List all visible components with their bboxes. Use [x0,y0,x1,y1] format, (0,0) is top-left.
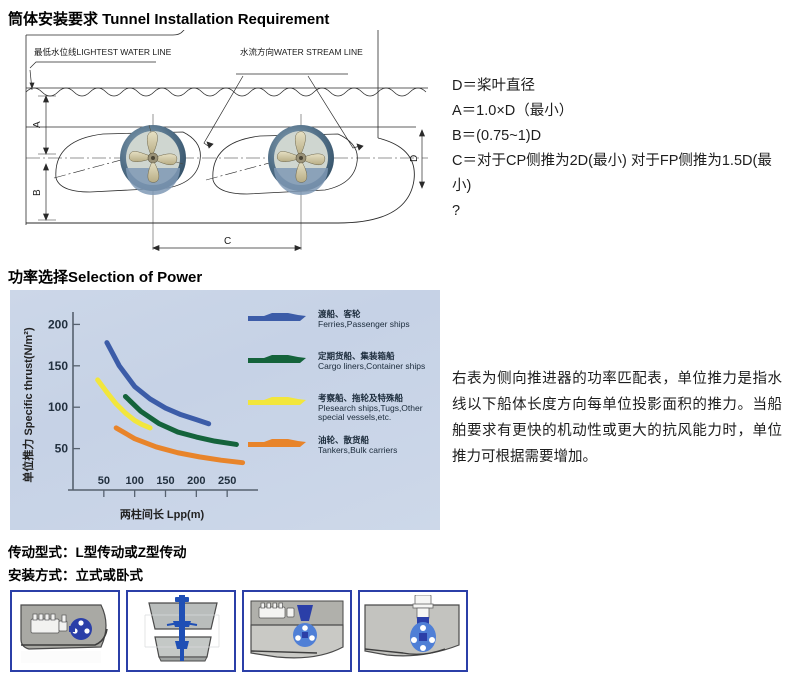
drive-type-label: 传动型式：L型传动或Z型传动 [8,541,187,561]
dimension-c-label: C [224,236,231,247]
chart-x-tick: 50 [98,475,110,487]
chart-y-tick: 100 [48,400,68,414]
legend-label-en: Tankers,Bulk carriers [318,445,397,455]
specific-thrust-chart: 5010015020025050100150200 渡船、客轮Ferries,P… [10,290,440,530]
legend-ship-icon [248,397,306,405]
formula-c: C＝对于CP侧推为2D(最小) 对于FP侧推为1.5D(最小) [452,149,784,199]
power-chart-note: 右表为侧向推进器的功率匹配表，单位推力是指水线以下船体长度方向每单位投影面积的推… [452,366,782,470]
formula-a: A＝1.0×D（最小） [452,99,784,124]
dimension-d-label: D [409,155,420,162]
formula-block: D＝桨叶直径 A＝1.0×D（最小） B＝(0.75~1)D C＝对于CP侧推为… [452,74,784,224]
legend-label-cn: 定期货船、集装箱船 [317,351,395,361]
power-section-title: 功率选择Selection of Power [8,266,202,287]
chart-x-axis-label: 两柱间长 Lpp(m) [120,507,205,521]
lowest-water-line-label: 最低水位线LIGHTEST WATER LINE [34,47,172,57]
tunnel-section-title: 筒体安装要求 Tunnel Installation Requirement [8,8,329,29]
mount-type-label: 安装方式：立式或卧式 [8,564,143,584]
legend-label-en: special vessels,etc. [318,412,391,422]
formula-d: D＝桨叶直径 [452,74,784,99]
legend-label-cn: 渡船、客轮 [318,309,361,319]
legend-ship-icon [248,439,306,447]
chart-series-line [125,396,236,444]
dimension-b-label: B [32,189,43,196]
chart-y-axis-label: 单位推力 Specific thrust(N/m²) [21,327,35,483]
chart-x-tick: 150 [156,475,174,487]
chart-x-tick: 100 [125,475,143,487]
thumbnail-horizontal-engine-bow[interactable] [10,590,120,672]
chart-y-tick: 200 [48,317,68,331]
formula-unknown: ? [452,199,784,224]
chart-series-line [98,380,150,428]
chart-x-tick: 200 [187,475,205,487]
formula-b: B＝(0.75~1)D [452,124,784,149]
thumbnail-vertical-shaft-section[interactable] [126,590,236,672]
legend-ship-icon [248,313,306,321]
legend-label-en: Ferries,Passenger ships [318,319,410,329]
dimension-a-label: A [32,121,43,128]
legend-ship-icon [248,355,306,363]
chart-y-tick: 150 [48,359,68,373]
thumbnail-vertical-mounted-thruster[interactable] [358,590,468,672]
tunnel-installation-drawing: 最低水位线LIGHTEST WATER LINE 水流方向WATER STREA… [8,30,438,260]
water-stream-line-label: 水流方向WATER STREAM LINE [240,47,363,57]
chart-x-tick: 250 [218,475,236,487]
legend-label-en: Cargo liners,Container ships [318,361,425,371]
installation-thumbnail-row [10,590,480,674]
legend-label-cn: 油轮、散货船 [318,435,370,445]
thumbnail-horizontal-engine-hull[interactable] [242,590,352,672]
chart-y-tick: 50 [55,442,69,456]
legend-label-cn: 考察船、拖轮及特殊船 [318,393,404,403]
